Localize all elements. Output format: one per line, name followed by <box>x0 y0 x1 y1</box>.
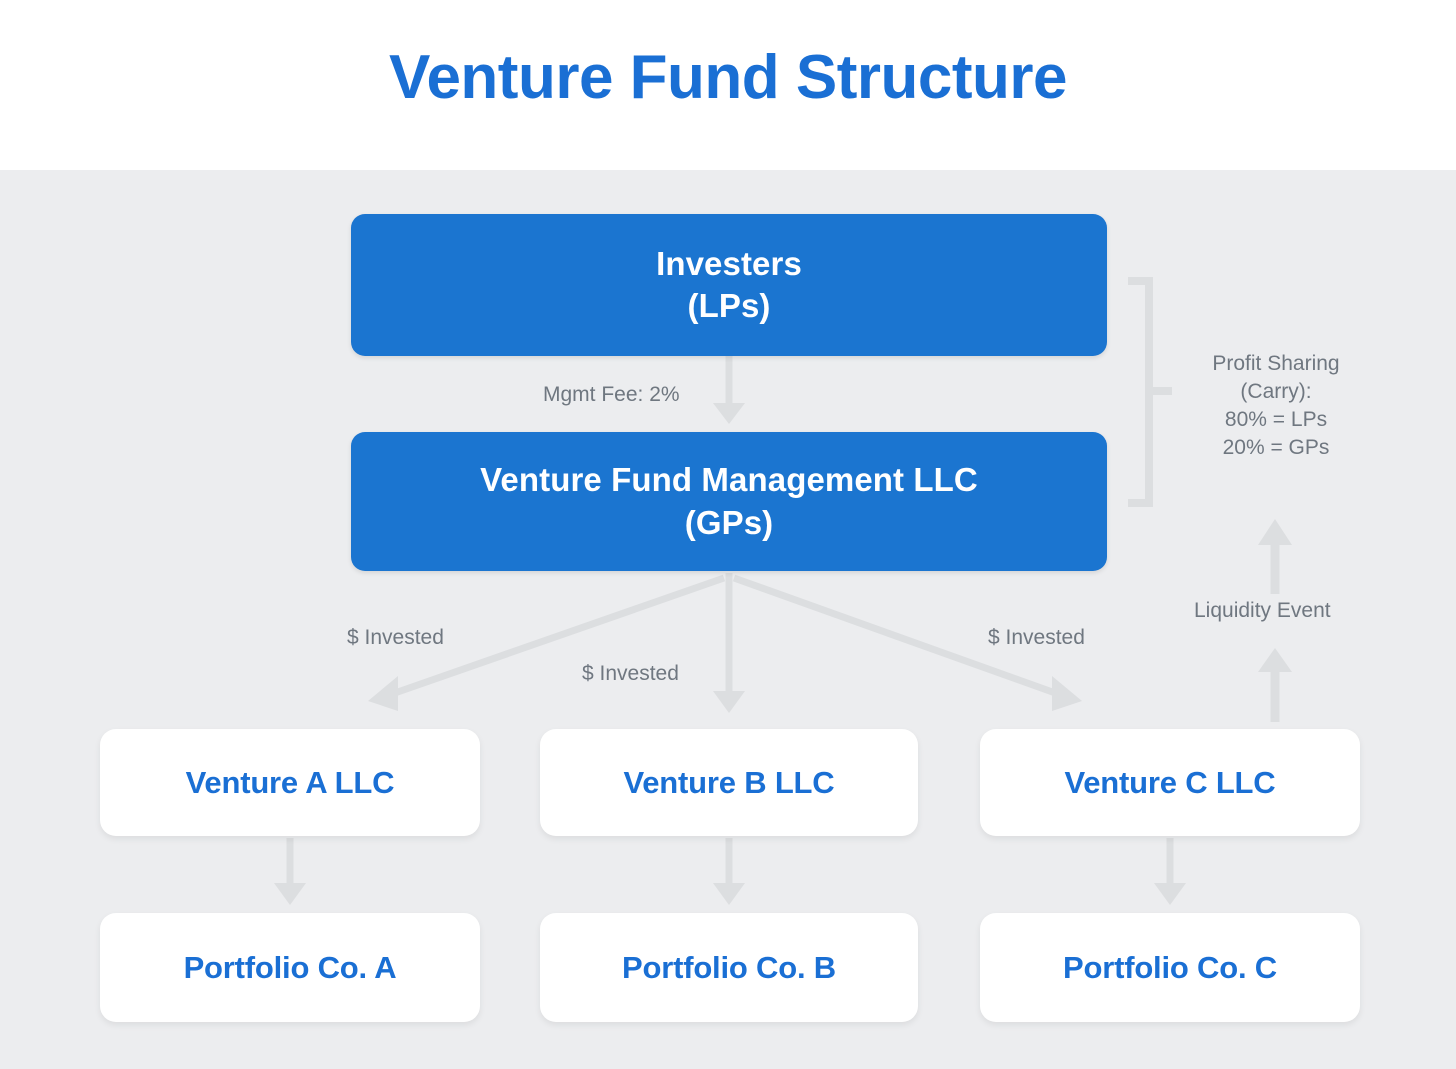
node-portfolio-a-label: Portfolio Co. A <box>184 950 397 986</box>
node-venture-c-label: Venture C LLC <box>1065 765 1276 801</box>
node-portfolio-c-label: Portfolio Co. C <box>1063 950 1277 986</box>
node-portfolio-b-label: Portfolio Co. B <box>622 950 836 986</box>
edge-label-invested-left: $ Invested <box>347 624 444 652</box>
edge-label-invested-middle: $ Invested <box>582 660 679 688</box>
diagram-canvas: Venture Fund Structure <box>0 0 1456 1069</box>
node-portfolio-b[interactable]: Portfolio Co. B <box>540 913 918 1022</box>
node-venture-b-label: Venture B LLC <box>624 765 835 801</box>
node-gp-line1: Venture Fund Management LLC <box>480 459 978 501</box>
node-gp-line2: (GPs) <box>685 502 774 544</box>
node-portfolio-a[interactable]: Portfolio Co. A <box>100 913 480 1022</box>
page-title: Venture Fund Structure <box>0 44 1456 112</box>
node-investors[interactable]: Investers (LPs) <box>351 214 1107 356</box>
node-investors-line1: Investers <box>656 243 802 285</box>
node-investors-line2: (LPs) <box>688 285 771 327</box>
node-portfolio-c[interactable]: Portfolio Co. C <box>980 913 1360 1022</box>
edge-label-liquidity-event: Liquidity Event <box>1194 597 1331 625</box>
node-gp[interactable]: Venture Fund Management LLC (GPs) <box>351 432 1107 571</box>
edge-label-profit-sharing: Profit Sharing (Carry): 80% = LPs 20% = … <box>1178 350 1374 462</box>
node-venture-c[interactable]: Venture C LLC <box>980 729 1360 836</box>
node-venture-a[interactable]: Venture A LLC <box>100 729 480 836</box>
node-venture-b[interactable]: Venture B LLC <box>540 729 918 836</box>
edge-label-mgmt-fee: Mgmt Fee: 2% <box>543 381 680 409</box>
edge-label-invested-right: $ Invested <box>988 624 1085 652</box>
header-band: Venture Fund Structure <box>0 0 1456 170</box>
node-venture-a-label: Venture A LLC <box>186 765 395 801</box>
